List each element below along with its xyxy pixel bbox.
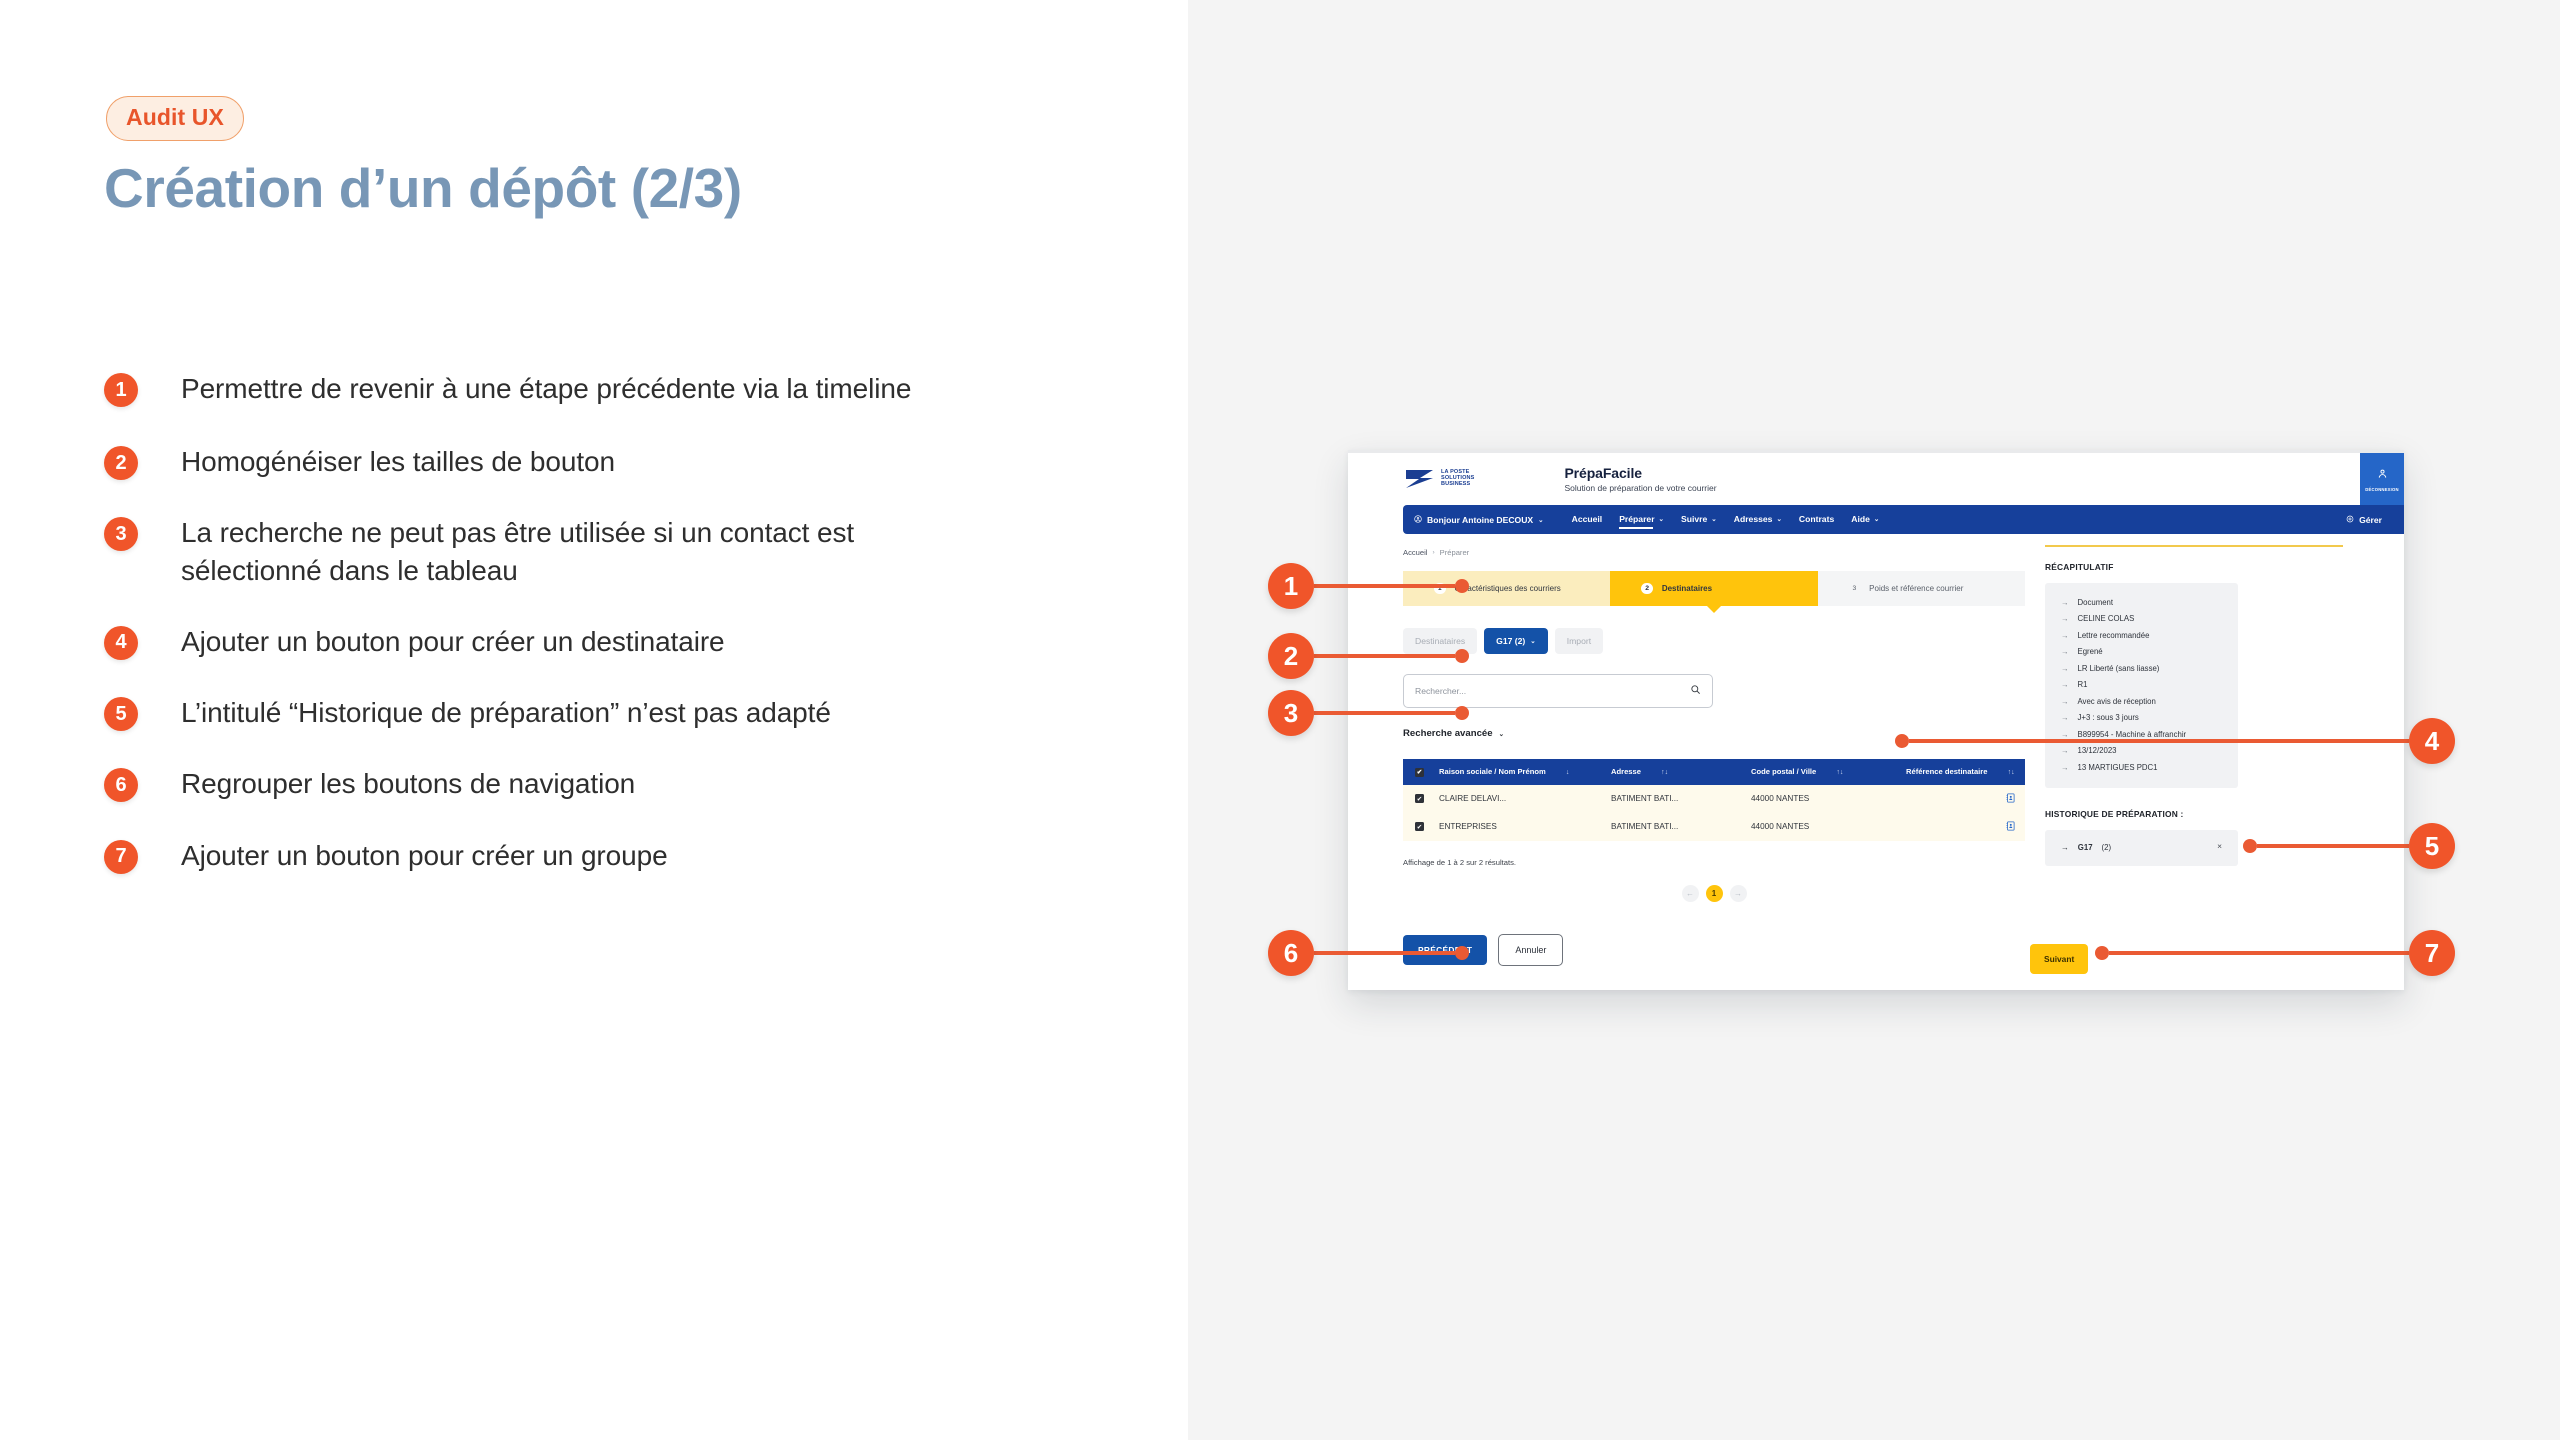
recap-item-label: 13 MARTIGUES PDC1 <box>2078 763 2158 772</box>
finding-text: Ajouter un bouton pour créer un destinat… <box>181 623 725 660</box>
callout-number: 3 <box>1268 690 1314 736</box>
search-icon[interactable] <box>1690 682 1701 700</box>
app-name: PrépaFacile <box>1564 465 1716 481</box>
nav-manage-link[interactable]: Gérer <box>2346 515 2382 525</box>
arrow-right-icon: → <box>2061 631 2069 640</box>
list-item: → CELINE COLAS <box>2045 611 2238 628</box>
callout-number: 7 <box>2409 930 2455 976</box>
cell-address: BATIMENT BATI... <box>1611 813 1751 841</box>
recap-item-label: Avec avis de réception <box>2078 697 2156 706</box>
left-content-column: Audit UX Création d’un dépôt (2/3) 1 Per… <box>0 0 1188 1440</box>
sort-icon[interactable]: ↑↓ <box>1836 769 1843 776</box>
row-checkbox-cell[interactable]: ✔ <box>1403 785 1439 813</box>
callout-number: 2 <box>1268 633 1314 679</box>
logo-line-3: BUSINESS <box>1441 482 1474 488</box>
table-row[interactable]: ✔ CLAIRE DELAVI... BATIMENT BATI... 4400… <box>1403 785 2025 813</box>
row-action-cell[interactable] <box>1906 785 2025 813</box>
contact-card-icon[interactable] <box>2006 823 2015 833</box>
segmented-button-group: Destinataires G17 (2) ⌄ Import <box>1403 628 2028 654</box>
step-2-destinataires[interactable]: 2 Destinataires <box>1610 571 1817 606</box>
list-item: → Document <box>2045 594 2238 611</box>
list-item: → R1 <box>2045 677 2238 694</box>
callout-6: 6 <box>1268 930 1469 976</box>
step-3-poids-reference[interactable]: 3 Poids et référence courrier <box>1818 571 2025 606</box>
sort-icon[interactable]: ↓ <box>1566 769 1570 776</box>
finding-number: 6 <box>104 768 138 802</box>
column-label: Référence destinataire <box>1906 767 1987 776</box>
finding-text: L’intitulé “Historique de préparation” n… <box>181 694 831 731</box>
list-item: 5 L’intitulé “Historique de préparation”… <box>104 694 984 731</box>
recap-item-label: R1 <box>2078 680 2088 689</box>
nav-item-label: Suivre <box>1681 514 1707 524</box>
arrow-right-icon: → <box>2061 598 2069 607</box>
arrow-right-icon: → <box>2061 763 2069 772</box>
chevron-down-icon: ⌄ <box>1530 637 1535 645</box>
gear-icon <box>2346 515 2354 525</box>
contact-card-icon[interactable] <box>2006 795 2015 805</box>
callout-number: 5 <box>2409 823 2455 869</box>
callout-4: 4 <box>1895 718 2455 764</box>
finding-number: 4 <box>104 626 138 660</box>
row-checkbox-cell[interactable]: ✔ <box>1403 813 1439 841</box>
chevron-down-icon: ⌄ <box>1659 515 1664 523</box>
pagination-next[interactable]: → <box>1730 885 1747 902</box>
history-item-name: G17 <box>2078 843 2093 852</box>
page-title: Création d’un dépôt (2/3) <box>104 158 742 219</box>
callout-line <box>1314 584 1455 588</box>
sidebar-top-divider <box>2045 545 2343 547</box>
tab-group-g17[interactable]: G17 (2) ⌄ <box>1484 628 1548 654</box>
sort-icon[interactable]: ↑↓ <box>1661 769 1668 776</box>
nav-manage-label: Gérer <box>2359 515 2382 525</box>
list-item: → LR Liberté (sans liasse) <box>2045 660 2238 677</box>
step-label: Destinataires <box>1662 584 1712 593</box>
list-item: 4 Ajouter un bouton pour créer un destin… <box>104 623 984 660</box>
tab-label: G17 (2) <box>1496 636 1525 646</box>
finding-text: Ajouter un bouton pour créer un groupe <box>181 837 668 874</box>
wizard-footer-buttons: PRÉCÉDENT Annuler <box>1403 934 2025 966</box>
nav-item-contrats[interactable]: Contrats <box>1799 514 1834 526</box>
history-title: HISTORIQUE DE PRÉPARATION : <box>2045 809 2349 819</box>
recap-item-label: Lettre recommandée <box>2078 631 2150 640</box>
finding-number: 2 <box>104 446 138 480</box>
nav-item-label: Accueil <box>1572 514 1603 524</box>
callout-1: 1 <box>1268 563 1469 609</box>
callout-endpoint <box>2095 946 2109 960</box>
row-action-cell[interactable] <box>1906 813 2025 841</box>
nav-greeting-label: Bonjour Antoine DECOUX <box>1427 515 1533 525</box>
callout-endpoint <box>1455 706 1469 720</box>
breadcrumb-current: Préparer <box>1440 548 1470 557</box>
finding-text: Homogénéiser les tailles de bouton <box>181 443 615 480</box>
cell-postcode-city: 44000 NANTES <box>1751 785 1906 813</box>
finding-number: 5 <box>104 697 138 731</box>
callout-line <box>1314 951 1455 955</box>
main-navigation: Bonjour Antoine DECOUX ⌄ Accueil Prépare… <box>1403 505 2404 534</box>
list-item: 1 Permettre de revenir à une étape précé… <box>104 370 984 407</box>
chevron-down-icon: ⌄ <box>1538 516 1543 524</box>
nav-item-label: Aide <box>1851 514 1870 524</box>
breadcrumb: Accueil › Préparer <box>1403 548 2028 557</box>
list-item: 2 Homogénéiser les tailles de bouton <box>104 443 984 480</box>
list-item: → Avec avis de réception <box>2045 693 2238 710</box>
step-label: Poids et référence courrier <box>1869 584 1963 593</box>
tab-label: Import <box>1567 636 1591 646</box>
cell-name: CLAIRE DELAVI... <box>1439 785 1611 813</box>
arrow-right-icon: → <box>2061 647 2069 656</box>
logout-label: DÉCONNEXION <box>2365 487 2398 492</box>
callout-endpoint <box>1455 946 1469 960</box>
finding-text: Permettre de revenir à une étape précéde… <box>181 370 911 407</box>
cancel-button[interactable]: Annuler <box>1498 934 1563 966</box>
callout-line <box>1909 739 2409 743</box>
sort-icon[interactable]: ↑↓ <box>2008 769 2015 776</box>
callout-3: 3 <box>1268 690 1469 736</box>
callout-endpoint <box>1455 579 1469 593</box>
breadcrumb-home[interactable]: Accueil <box>1403 548 1427 557</box>
column-label: Adresse <box>1611 767 1641 776</box>
recap-title: RÉCAPITULATIF <box>2045 562 2349 572</box>
app-header: LA POSTE SOLUTIONS BUSINESS PrépaFacile … <box>1348 453 2404 505</box>
nav-item-label: Contrats <box>1799 514 1834 524</box>
nav-item-aide[interactable]: Aide ⌄ <box>1851 514 1879 526</box>
recap-item-label: Document <box>2078 598 2114 607</box>
finding-text: Regrouper les boutons de navigation <box>181 765 635 802</box>
tab-import[interactable]: Import <box>1555 628 1603 654</box>
finding-number: 3 <box>104 517 138 551</box>
chevron-down-icon: ⌄ <box>1874 515 1879 523</box>
chevron-down-icon: ⌄ <box>1499 730 1504 738</box>
finding-number: 7 <box>104 840 138 874</box>
wizard-stepper: 1 Caractéristiques des courriers 2 Desti… <box>1403 571 2025 606</box>
callout-line <box>2109 951 2409 955</box>
nav-item-preparer[interactable]: Préparer ⌄ <box>1619 514 1664 526</box>
callout-endpoint <box>1895 734 1909 748</box>
user-icon <box>2377 466 2388 484</box>
callout-7: 7 <box>2095 930 2455 976</box>
chevron-down-icon: ⌄ <box>1776 515 1781 523</box>
recap-item-label: Egrené <box>2078 647 2103 656</box>
list-item[interactable]: → G17 (2) <box>2045 843 2238 852</box>
cell-postcode-city: 44000 NANTES <box>1751 813 1906 841</box>
nav-item-adresses[interactable]: Adresses ⌄ <box>1734 514 1782 526</box>
recipients-table: ✔ Raison sociale / Nom Prénom ↓ Adresse … <box>1403 759 2025 841</box>
user-circle-icon <box>1414 515 1422 525</box>
callout-endpoint <box>1455 649 1469 663</box>
recap-item-label: CELINE COLAS <box>2078 614 2135 623</box>
nav-item-label: Adresses <box>1734 514 1773 524</box>
callout-line <box>1314 711 1455 715</box>
pagination-page-1[interactable]: 1 <box>1706 885 1723 902</box>
status-badge: Audit UX <box>106 96 244 141</box>
nav-item-label: Préparer <box>1619 514 1654 524</box>
arrow-right-icon: → <box>2061 680 2069 689</box>
column-header-postcode-city[interactable]: Code postal / Ville ↑↓ <box>1751 759 1906 785</box>
app-title-block: PrépaFacile Solution de préparation de v… <box>1564 465 1716 493</box>
chevron-down-icon: ⌄ <box>1711 515 1716 523</box>
callout-number: 4 <box>2409 718 2455 764</box>
nav-item-list: Accueil Préparer ⌄ Suivre ⌄ Adresses ⌄ C… <box>1572 514 1880 526</box>
logout-button[interactable]: DÉCONNEXION <box>2360 453 2404 505</box>
step-number: 2 <box>1641 583 1653 595</box>
finding-text: La recherche ne peut pas être utilisée s… <box>181 514 984 588</box>
table-body: ✔ CLAIRE DELAVI... BATIMENT BATI... 4400… <box>1403 785 2025 841</box>
column-label: Code postal / Ville <box>1751 767 1816 776</box>
cell-name: ENTREPRISES <box>1439 813 1611 841</box>
arrow-right-icon: → <box>2061 614 2069 623</box>
list-item: 7 Ajouter un bouton pour créer un groupe <box>104 837 984 874</box>
row-checkbox[interactable]: ✔ <box>1415 794 1424 803</box>
step-label: Caractéristiques des courriers <box>1455 584 1561 593</box>
results-count: Affichage de 1 à 2 sur 2 résultats. <box>1403 858 2028 867</box>
callout-5: 5 <box>2243 823 2455 869</box>
column-label: Raison sociale / Nom Prénom <box>1439 767 1546 776</box>
recap-item-label: LR Liberté (sans liasse) <box>2078 664 2160 673</box>
list-item: → Egrené <box>2045 644 2238 661</box>
row-checkbox[interactable]: ✔ <box>1415 822 1424 831</box>
pagination: ← 1 → <box>1403 885 2025 902</box>
nav-item-accueil[interactable]: Accueil <box>1572 514 1603 526</box>
nav-item-suivre[interactable]: Suivre ⌄ <box>1681 514 1717 526</box>
la-poste-wordmark: LA POSTE SOLUTIONS BUSINESS <box>1441 470 1474 488</box>
callout-number: 1 <box>1268 563 1314 609</box>
callout-line <box>1314 654 1455 658</box>
column-header-address[interactable]: Adresse ↑↓ <box>1611 759 1751 785</box>
column-header-name[interactable]: Raison sociale / Nom Prénom ↓ <box>1439 759 1611 785</box>
next-button[interactable]: Suivant <box>2030 944 2088 974</box>
history-item-count: (2) <box>2102 843 2112 852</box>
list-item: 6 Regrouper les boutons de navigation <box>104 765 984 802</box>
finding-number: 1 <box>104 373 138 407</box>
chevron-right-icon: › <box>1432 549 1434 556</box>
la-poste-bird-icon <box>1403 466 1437 492</box>
arrow-right-icon: → <box>2061 843 2069 852</box>
pagination-prev[interactable]: ← <box>1682 885 1699 902</box>
findings-list: 1 Permettre de revenir à une étape précé… <box>104 370 984 908</box>
callout-line <box>2257 844 2409 848</box>
close-icon[interactable]: × <box>2217 841 2222 851</box>
table-row[interactable]: ✔ ENTREPRISES BATIMENT BATI... 44000 NAN… <box>1403 813 2025 841</box>
history-list: → G17 (2) × <box>2045 830 2238 866</box>
callout-endpoint <box>2243 839 2257 853</box>
select-all-checkbox[interactable]: ✔ <box>1415 768 1424 777</box>
callout-number: 6 <box>1268 930 1314 976</box>
cell-address: BATIMENT BATI... <box>1611 785 1751 813</box>
slide-canvas: Audit UX Création d’un dépôt (2/3) 1 Per… <box>0 0 2560 1440</box>
arrow-right-icon: → <box>2061 697 2069 706</box>
callout-2: 2 <box>1268 633 1469 679</box>
app-tagline: Solution de préparation de votre courrie… <box>1564 483 1716 493</box>
select-all-checkbox-cell[interactable]: ✔ <box>1403 759 1439 785</box>
list-item: → Lettre recommandée <box>2045 627 2238 644</box>
arrow-right-icon: → <box>2061 664 2069 673</box>
step-number: 3 <box>1849 583 1861 595</box>
nav-user-greeting[interactable]: Bonjour Antoine DECOUX ⌄ <box>1414 515 1544 525</box>
la-poste-logo: LA POSTE SOLUTIONS BUSINESS <box>1403 466 1474 492</box>
list-item: 3 La recherche ne peut pas être utilisée… <box>104 514 984 588</box>
